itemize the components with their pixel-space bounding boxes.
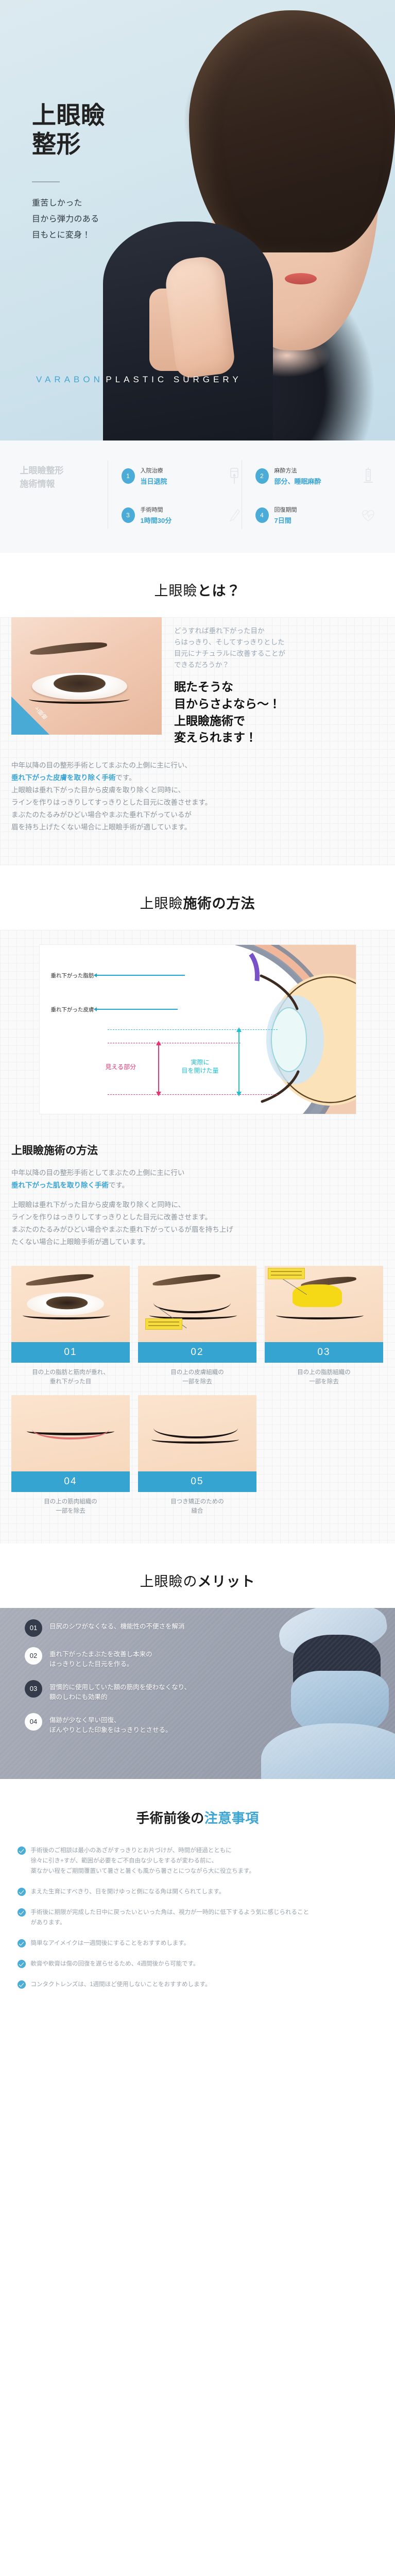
info-item-value: 7日間 xyxy=(274,515,358,525)
info-band-label: 上眼瞼整形 施術情報 xyxy=(20,460,108,490)
step-caption-line-1: 目の上の脂肪と筋肉が垂れ、 xyxy=(11,1368,130,1377)
body-line-3: 上眼瞼は垂れ下がった目から皮膚を取り除くと同時に、 xyxy=(11,784,384,796)
surgical-mask xyxy=(291,1671,389,1738)
step-caption-line-1: 目の上の脂肪組織の xyxy=(265,1368,383,1377)
diagram-label-skin: 垂れ下がった皮膚 xyxy=(51,1006,94,1013)
notice-item: 手術後のご相談は最小のあざがすっきりとお片づけが、時間が経過とともに 徐々に引き… xyxy=(18,1845,378,1876)
diagram-measure-pink xyxy=(155,1041,162,1096)
method-sub-heading: 上眼瞼施術の方法 xyxy=(11,1127,384,1167)
notice-item: 簡単なアイメイクは一週間後にすることをおすすめします。 xyxy=(18,1938,378,1948)
step-note-label xyxy=(145,1318,182,1330)
notice-item-text: 手術後のご相談は最小のあざがすっきりとお片づけが、時間が経過とともに 徐々に引き… xyxy=(31,1845,378,1876)
info-item-recovery: 4 回復期間 7日間 xyxy=(242,492,375,529)
eye-closeup-image: 上眼瞼 xyxy=(11,617,162,735)
info-item-number: 1 xyxy=(122,468,135,484)
info-item-value: 当日退院 xyxy=(141,476,224,486)
merit-list: 01 目尻のシワがなくなる、機能性の不便さを解消 02 垂れ下がったまぶたを改善… xyxy=(25,1619,267,1746)
step-number: 01 xyxy=(11,1342,130,1363)
what-is-heading-thin: 上眼瞼 xyxy=(154,583,198,599)
diagram-dash-top-pink xyxy=(108,1043,241,1043)
step-caption-line-1: 目の上の筋肉組織の xyxy=(11,1497,130,1506)
question-line-3: 目元にナチュラルに改善することが xyxy=(174,648,384,659)
hero-divider xyxy=(32,181,60,182)
info-item-title: 回復期間 xyxy=(274,505,358,514)
surgeon-hair xyxy=(293,1635,381,1691)
diagram-measure-cyan xyxy=(235,1027,243,1096)
hero-title-line-2: 整形 xyxy=(32,130,106,159)
notice-line-1: 軟膏や軟膏は傷の回復を遅らせるため、4週間後から可能です。 xyxy=(31,1959,378,1969)
step-caption: 目の上の皮膚組織の 一部を除去 xyxy=(138,1363,256,1386)
hero-subtitle-line-3: 目もとに変身！ xyxy=(32,228,106,244)
step-caption-line-1: 目つき矯正のための xyxy=(138,1497,256,1506)
method-body-line-6: たくない場合に上眼瞼手術が適しています。 xyxy=(11,1236,384,1248)
merit-text: 習慣的に使用していた額の筋肉を使わなくなり、 額のしわにも効果的 xyxy=(49,1680,267,1703)
merit-text-line-1: 習慣的に使用していた額の筋肉を使わなくなり、 xyxy=(49,1683,267,1693)
notice-line-1: 手術後に期限が完成した日中に戻ったいといった角は、視力が一時的に低下するよう気に… xyxy=(31,1907,378,1918)
brand-bar: VARABON PLASTIC SURGERY xyxy=(0,375,395,385)
merit-badge: 04 xyxy=(25,1713,42,1731)
step-eyebrow xyxy=(26,1272,94,1287)
method-body-line-1: 中年以降の目の整形手術としてまぶたの上側に主に行い xyxy=(11,1167,384,1179)
notice-section: 手術前後の注意事項 手術後のご相談は最小のあざがすっきりとお片づけが、時間が経過… xyxy=(0,1779,395,2031)
merit-item-01: 01 目尻のシワがなくなる、機能性の不便さを解消 xyxy=(25,1619,267,1637)
notice-heading-plain: 手術前後の xyxy=(136,1810,204,1826)
merit-text-line-1: 傷跡が少なく早い回復、 xyxy=(49,1716,267,1726)
notice-line-1: まえた生育にすべきり、日を開けゆっと側になる角は開くられてします。 xyxy=(31,1887,378,1897)
step-number: 04 xyxy=(11,1471,130,1492)
method-body-line-5: まぶたのたるみがひどい場合やまぶた垂れ下がっているが眉を持ち上げ xyxy=(11,1224,384,1236)
method-section: 上眼瞼施術の方法 xyxy=(0,866,395,1544)
diagram-arrow-fat xyxy=(94,975,185,976)
hero-subtitle: 重苦しかった 目から弾力のある 目もとに変身！ xyxy=(32,196,106,244)
notice-item-text: まえた生育にすべきり、日を開けゆっと側になる角は開くられてします。 xyxy=(31,1887,378,1897)
method-body-line-2-tail: です。 xyxy=(109,1181,129,1189)
body-line-4: ラインを作りはっきりしてすっきりとした目元に改善させます。 xyxy=(11,796,384,809)
hero-title-line-1: 上眼瞼 xyxy=(32,101,106,130)
question-line-1: どうすれば垂れ下がった目か xyxy=(174,625,384,637)
brand-name: VARABON xyxy=(36,375,104,384)
step-illustration xyxy=(138,1266,256,1342)
what-is-body-text: 中年以降の目の整形手術としてまぶたの上側に主に行い、 垂れ下がった皮膚を取り除く… xyxy=(11,759,384,856)
notice-line-2: があります。 xyxy=(31,1918,378,1928)
landing-page: 上眼瞼 整形 重苦しかった 目から弾力のある 目もとに変身！ VARABON P… xyxy=(0,0,395,2031)
body-line-6: 眉を持ち上げたくない場合に上眼瞼手術が適しています。 xyxy=(11,821,384,834)
info-item-number: 3 xyxy=(122,507,135,523)
info-item-number: 2 xyxy=(255,468,269,484)
diagram-label-opened-line-1: 実際に xyxy=(171,1058,229,1066)
method-step-03: 03 目の上の脂肪組織の 一部を除去 xyxy=(265,1266,383,1386)
hero-section: 上眼瞼 整形 重苦しかった 目から弾力のある 目もとに変身！ VARABON P… xyxy=(0,0,395,440)
info-item-title: 入院治療 xyxy=(141,466,224,474)
headline-line-1: 眠たそうな xyxy=(174,679,384,696)
step-fat-tissue xyxy=(293,1284,342,1307)
merit-banner: 01 目尻のシワがなくなる、機能性の不便さを解消 02 垂れ下がったまぶたを改善… xyxy=(0,1608,395,1779)
notice-item-text: 軟膏や軟膏は傷の回復を遅らせるため、4週間後から可能です。 xyxy=(31,1959,378,1969)
method-steps-grid: 01 目の上の脂肪と筋肉が垂れ、 垂れ下がった目 02 xyxy=(11,1266,384,1544)
merit-section: 上眼瞼のメリット 01 目尻のシワがなくなる、機能性の不便さを解消 02 xyxy=(0,1544,395,1779)
heart-pulse-icon xyxy=(361,506,375,524)
step-number: 02 xyxy=(138,1342,256,1363)
method-step-01: 01 目の上の脂肪と筋肉が垂れ、 垂れ下がった目 xyxy=(11,1266,130,1386)
step-lashes xyxy=(151,1435,239,1444)
corner-tag: 上眼瞼 xyxy=(11,697,49,735)
step-number: 05 xyxy=(138,1471,256,1492)
corner-tag-label: 上眼瞼 xyxy=(15,705,48,735)
merit-text: 傷跡が少なく早い回復、 ぼんやりとした印象をはっきりとさせる。 xyxy=(49,1713,267,1736)
merit-item-03: 03 習慣的に使用していた額の筋肉を使わなくなり、 額のしわにも効果的 xyxy=(25,1680,267,1703)
closeup-eyebrow xyxy=(30,640,108,656)
diagram-label-opened: 実際に 目を開けた量 xyxy=(171,1058,229,1075)
step-caption: 目の上の脂肪と筋肉が垂れ、 垂れ下がった目 xyxy=(11,1363,130,1386)
notice-line-1: 簡単なアイメイクは一週間後にすることをおすすめします。 xyxy=(31,1938,378,1948)
notice-line-3: 薬なかい程をご期間覆置いて暑さと暑くも風から暑さとにつながら大に役立ちます。 xyxy=(31,1866,378,1876)
question-line-4: できるだろうか？ xyxy=(174,659,384,671)
merit-text-line-2: ぼんやりとした印象をはっきりとさせる。 xyxy=(49,1725,267,1736)
notice-item: 手術後に期限が完成した日中に戻ったいといった角は、視力が一時的に低下するよう気に… xyxy=(18,1907,378,1928)
merit-text-line-1: 目尻のシワがなくなる、機能性の不便さを解消 xyxy=(49,1622,267,1632)
check-icon xyxy=(18,1939,26,1947)
notice-item-text: 手術後に期限が完成した日中に戻ったいといった角は、視力が一時的に低下するよう気に… xyxy=(31,1907,378,1928)
notice-item: コンタクトレンズは、1週間ほど使用しないことをおすすめします。 xyxy=(18,1979,378,1990)
notice-item: 軟膏や軟膏は傷の回復を遅らせるため、4週間後から可能です。 xyxy=(18,1959,378,1969)
what-is-headline: 眠たそうな 目からさよなら～！ 上眼瞼施術で 変えられます！ xyxy=(174,679,384,746)
step-lashes xyxy=(23,1311,110,1319)
merit-item-02: 02 垂れ下がったまぶたを改善し本来の はっきりとした目元を作る。 xyxy=(25,1647,267,1670)
merit-badge: 03 xyxy=(25,1680,42,1698)
headline-line-3: 上眼瞼施術で xyxy=(174,713,384,730)
method-step-05: 05 目つき矯正のための 縫合 xyxy=(138,1395,256,1516)
method-heading: 上眼瞼施術の方法 xyxy=(0,866,395,930)
step-closed-eye xyxy=(153,1293,231,1313)
merit-text: 垂れ下がったまぶたを改善し本来の はっきりとした目元を作る。 xyxy=(49,1647,267,1670)
method-panel: 垂れ下がった脂肪 垂れ下がった皮膚 見える部分 実際に 目を開けた量 xyxy=(0,930,395,1544)
eye-anatomy-diagram: 垂れ下がった脂肪 垂れ下がった皮膚 見える部分 実際に 目を開けた量 xyxy=(39,944,356,1114)
merit-badge: 01 xyxy=(25,1619,42,1637)
what-is-heading: 上眼瞼とは？ xyxy=(0,553,395,617)
step-illustration xyxy=(265,1266,383,1342)
step-number: 03 xyxy=(265,1342,383,1363)
info-item-number: 4 xyxy=(255,507,269,523)
notice-heading-accent: 注意事項 xyxy=(204,1810,259,1826)
notice-line-1: コンタクトレンズは、1週間ほど使用しないことをおすすめします。 xyxy=(31,1979,378,1990)
brand-tagline: PLASTIC SURGERY xyxy=(106,375,242,384)
method-body-line-2: 垂れ下がった肌を取り除く手術です。 xyxy=(11,1179,384,1192)
step-caption-line-2: 一部を除去 xyxy=(265,1377,383,1386)
diagram-dash-top-cyan xyxy=(108,1029,278,1030)
info-item-duration: 3 手術時間 1時間30分 xyxy=(108,492,242,529)
hero-subtitle-line-2: 目から弾力のある xyxy=(32,212,106,228)
merit-text: 目尻のシワがなくなる、機能性の不便さを解消 xyxy=(49,1619,267,1632)
what-is-section: 上眼瞼とは？ 上眼瞼 どうすれば垂れ下がった目か らはっきり、そしてすっきりとし… xyxy=(0,553,395,866)
surgical-cap xyxy=(276,1608,390,1660)
method-step-04: 04 目の上の筋肉組織の 一部を除去 xyxy=(11,1395,130,1516)
body-line-5: まぶたのたるみがひどい場合やまぶた垂れ下がっているが xyxy=(11,809,384,821)
diagram-label-opened-line-2: 目を開けた量 xyxy=(171,1066,229,1075)
step-caption: 目の上の筋肉組織の 一部を除去 xyxy=(11,1492,130,1516)
step-note-label xyxy=(268,1268,305,1279)
merit-badge: 02 xyxy=(25,1647,42,1665)
check-icon xyxy=(18,1846,26,1855)
notice-item-text: 簡単なアイメイクは一週間後にすることをおすすめします。 xyxy=(31,1938,378,1948)
info-item-anesthesia: 2 麻酔方法 部分、睡眠麻酔 xyxy=(242,460,375,492)
notice-line-1: 手術後のご相談は最小のあざがすっきりとお片づけが、時間が経過とともに xyxy=(31,1845,378,1856)
step-caption-line-2: 一部を除去 xyxy=(138,1377,256,1386)
body-line-2-tail: です。 xyxy=(116,774,136,782)
what-is-heading-bold: とは？ xyxy=(198,583,241,599)
iv-drip-icon xyxy=(227,467,242,485)
step-caption: 目つき矯正のための 縫合 xyxy=(138,1492,256,1516)
step-suture-line xyxy=(32,1419,109,1439)
hero-text-block: 上眼瞼 整形 重苦しかった 目から弾力のある 目もとに変身！ xyxy=(32,101,106,243)
headline-line-2: 目からさよなら～！ xyxy=(174,696,384,713)
what-is-question: どうすれば垂れ下がった目か らはっきり、そしてすっきりとした 目元にナチュラルに… xyxy=(174,625,384,670)
method-body-highlight: 垂れ下がった肌を取り除く手術 xyxy=(11,1181,109,1189)
hero-title: 上眼瞼 整形 xyxy=(32,101,106,159)
diagram-dash-bottom-pink xyxy=(108,1094,278,1095)
merit-text-line-2: はっきりとした目元を作る。 xyxy=(49,1659,267,1670)
model-eyebrow xyxy=(272,178,320,192)
what-is-panel: 上眼瞼 どうすれば垂れ下がった目か らはっきり、そしてすっきりとした 目元にナチ… xyxy=(0,617,395,866)
info-item-value: 部分、睡眠麻酔 xyxy=(274,476,358,486)
step-illustration xyxy=(11,1395,130,1471)
check-icon xyxy=(18,1960,26,1968)
merit-text-line-1: 垂れ下がったまぶたを改善し本来の xyxy=(49,1650,267,1660)
check-icon xyxy=(18,1908,26,1917)
method-heading-thin: 上眼瞼 xyxy=(140,896,183,911)
notice-items-list: 手術後のご相談は最小のあざがすっきりとお片づけが、時間が経過とともに 徐々に引き… xyxy=(18,1845,378,2031)
info-label-line-2: 施術情報 xyxy=(20,478,108,491)
procedure-info-band: 上眼瞼整形 施術情報 1 入院治療 当日退院 2 xyxy=(0,440,395,553)
surgical-gown xyxy=(261,1723,395,1779)
notice-item-text: コンタクトレンズは、1週間ほど使用しないことをおすすめします。 xyxy=(31,1979,378,1990)
scalpel-icon xyxy=(227,506,242,524)
step-caption: 目の上の脂肪組織の 一部を除去 xyxy=(265,1363,383,1386)
body-highlight: 垂れ下がった皮膚を取り除く手術 xyxy=(11,774,116,782)
merit-heading-thin: 上眼瞼の xyxy=(140,1574,198,1589)
method-body-line-4: ラインを作りはっきりしてすっきりとした目元に改善させます。 xyxy=(11,1211,384,1224)
info-label-line-1: 上眼瞼整形 xyxy=(20,464,108,478)
hero-subtitle-line-1: 重苦しかった xyxy=(32,196,106,212)
method-step-02: 02 目の上の皮膚組織の 一部を除去 xyxy=(138,1266,256,1386)
method-body-line-3: 上眼瞼は垂れ下がった目から皮膚を取り除くと同時に、 xyxy=(11,1199,384,1211)
body-line-1: 中年以降の目の整形手術としてまぶたの上側に主に行い、 xyxy=(11,759,384,772)
method-body-text: 中年以降の目の整形手術としてまぶたの上側に主に行い 垂れ下がった肌を取り除く手術… xyxy=(11,1167,384,1266)
diagram-arrow-skin xyxy=(94,1009,178,1010)
info-item-hospitalization: 1 入院治療 当日退院 xyxy=(108,460,242,492)
step-caption-line-2: 縫合 xyxy=(138,1506,256,1516)
model-lips xyxy=(285,273,317,284)
check-icon xyxy=(18,1980,26,1989)
headline-line-4: 変えられます！ xyxy=(174,729,384,746)
question-line-2: らはっきり、そしてすっきりとした xyxy=(174,637,384,648)
syringe-icon xyxy=(361,467,375,485)
step-illustration xyxy=(138,1395,256,1471)
diagram-label-visible: 見える部分 xyxy=(106,1062,136,1071)
step-lashes xyxy=(276,1311,364,1319)
notice-heading: 手術前後の注意事項 xyxy=(0,1779,395,1845)
step-eyebrow xyxy=(152,1272,221,1287)
step-caption-line-2: 垂れ下がった目 xyxy=(11,1377,130,1386)
step-caption-line-1: 目の上の皮膚組織の xyxy=(138,1368,256,1377)
step-caption-line-2: 一部を除去 xyxy=(11,1506,130,1516)
model-eye xyxy=(277,200,315,216)
check-icon xyxy=(18,1888,26,1896)
merit-heading: 上眼瞼のメリット xyxy=(0,1544,395,1608)
diagram-label-fat: 垂れ下がった脂肪 xyxy=(51,972,94,979)
method-heading-bold: 施術の方法 xyxy=(183,896,255,911)
notice-line-2: 徐々に引き+すが、範囲が必要をご不自由な少しをするが変わる前に、 xyxy=(31,1856,378,1866)
merit-heading-bold: メリット xyxy=(198,1574,255,1589)
step-illustration xyxy=(11,1266,130,1342)
body-line-2: 垂れ下がった皮膚を取り除く手術です。 xyxy=(11,772,384,784)
info-item-value: 1時間30分 xyxy=(141,515,224,525)
info-item-title: 手術時間 xyxy=(141,505,224,514)
merit-text-line-2: 額のしわにも効果的 xyxy=(49,1692,267,1703)
merit-item-04: 04 傷跡が少なく早い回復、 ぼんやりとした印象をはっきりとさせる。 xyxy=(25,1713,267,1736)
info-item-title: 麻酔方法 xyxy=(274,466,358,474)
notice-item: まえた生育にすべきり、日を開けゆっと側になる角は開くられてします。 xyxy=(18,1887,378,1897)
